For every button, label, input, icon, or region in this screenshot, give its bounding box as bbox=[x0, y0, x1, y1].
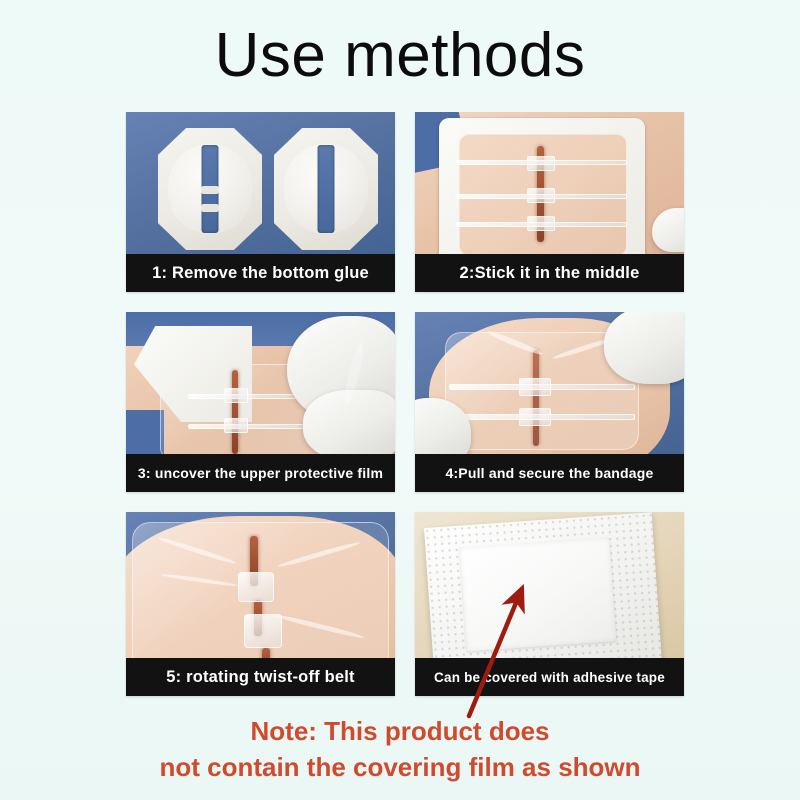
step-caption-3: 3: uncover the upper protective film bbox=[126, 454, 395, 492]
step-caption-5: 5: rotating twist-off belt bbox=[126, 658, 395, 696]
belt-strand-upper bbox=[449, 384, 635, 390]
belt-strand-lower bbox=[188, 424, 308, 429]
belt-strand-middle bbox=[455, 194, 627, 199]
pad-tie-upper bbox=[202, 186, 219, 194]
page-root: Use methods 1: Remove the bottom glue bbox=[0, 0, 800, 800]
belt-clip-upper bbox=[224, 388, 248, 403]
step-card-5[interactable]: 5: rotating twist-off belt bbox=[126, 512, 395, 696]
note-line-1: Note: This product does bbox=[0, 714, 800, 750]
twist-knot-upper bbox=[238, 572, 274, 602]
pad-slot bbox=[318, 145, 335, 233]
belt-strand-lower bbox=[455, 222, 627, 227]
adhesive-pad-left bbox=[158, 128, 262, 250]
step-card-3[interactable]: 3: uncover the upper protective film bbox=[126, 312, 395, 492]
step-card-6[interactable]: Can be covered with adhesive tape bbox=[415, 512, 684, 696]
step-card-4[interactable]: 4:Pull and secure the bandage bbox=[415, 312, 684, 492]
belt-strand-upper bbox=[455, 160, 627, 165]
pad-tie-lower bbox=[202, 204, 219, 212]
page-title: Use methods bbox=[0, 22, 800, 90]
blue-drape-left bbox=[126, 410, 164, 454]
belt-clip-lower bbox=[224, 418, 248, 433]
step-caption-4: 4:Pull and secure the bandage bbox=[415, 454, 684, 492]
note-line-2: not contain the covering film as shown bbox=[0, 750, 800, 786]
steps-grid: 1: Remove the bottom glue 2:Stick it in … bbox=[126, 112, 684, 696]
step-caption-1: 1: Remove the bottom glue bbox=[126, 254, 395, 292]
step-caption-2: 2:Stick it in the middle bbox=[415, 254, 684, 292]
twist-knot-lower bbox=[244, 614, 282, 648]
nonwoven-dressing bbox=[424, 512, 662, 678]
belt-strand-lower bbox=[449, 414, 635, 420]
step-caption-6: Can be covered with adhesive tape bbox=[415, 658, 684, 696]
step-card-1[interactable]: 1: Remove the bottom glue bbox=[126, 112, 395, 292]
adhesive-pad-right bbox=[274, 128, 378, 250]
note-text: Note: This product does not contain the … bbox=[0, 714, 800, 786]
gloved-hand-right bbox=[604, 312, 684, 384]
wound-line bbox=[533, 350, 539, 446]
wound-line bbox=[232, 370, 238, 454]
dressing-absorbent-pad bbox=[459, 537, 616, 651]
step-card-2[interactable]: 2:Stick it in the middle bbox=[415, 112, 684, 292]
